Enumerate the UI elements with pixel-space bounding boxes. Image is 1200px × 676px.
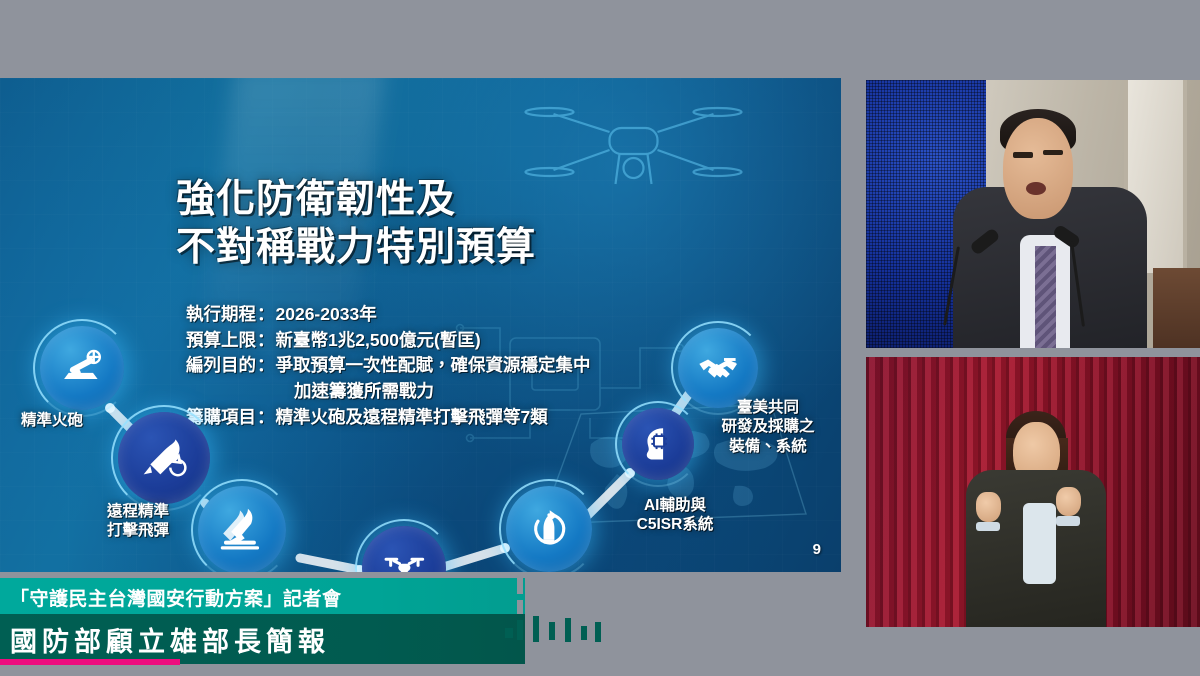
- speaker-tie: [1035, 246, 1057, 348]
- spec-row: 執行期程 ： 2026-2033年: [186, 302, 706, 328]
- broadcast-stage: 強化防衛韌性及 不對稱戰力特別預算 執行期程 ： 2026-2033年 預算上限…: [0, 0, 1200, 676]
- presentation-slide: 強化防衛韌性及 不對稱戰力特別預算 執行期程 ： 2026-2033年 預算上限…: [0, 78, 841, 572]
- node-label-line: 裝備、系統: [700, 437, 836, 456]
- speaker-head: [1003, 118, 1073, 220]
- interpreter-hand-right: [1056, 487, 1081, 517]
- spec-separator: ：: [256, 405, 276, 431]
- slide-node-label-us-taiwan-codev: 臺美共同 研發及採購之 裝備、系統: [700, 398, 836, 456]
- artillery-icon: [58, 344, 107, 393]
- spec-separator: ：: [256, 328, 276, 354]
- ai-brain-icon: [637, 423, 679, 465]
- video-panel-speaker-cam[interactable]: [866, 80, 1200, 348]
- handshake-icon: [695, 345, 741, 391]
- node-label-line: 精準火砲: [0, 411, 106, 430]
- speaker-brow-left: [1013, 152, 1033, 157]
- lower-third-subtitle: 國防部顧立雄部長簡報: [10, 614, 515, 664]
- spec-key: 編列目的: [186, 353, 256, 379]
- spec-key: 執行期程: [186, 302, 256, 328]
- spec-row: 編列目的 ： 爭取預算一次性配賦，確保資源穩定集中: [186, 353, 706, 379]
- node-label-line: AI輔助與: [615, 496, 735, 515]
- slide-node-label-long-range-missile: 遠程精準 打擊飛彈: [78, 502, 198, 541]
- launcher-icon: [216, 504, 267, 555]
- interpreter-cuff-right: [1056, 516, 1079, 525]
- slide-node-sustainment-capacity[interactable]: [506, 486, 592, 572]
- spec-value: 爭取預算一次性配賦，確保資源穩定集中: [276, 353, 591, 379]
- speaker-brow-right: [1043, 150, 1063, 155]
- node-label-line: 打擊飛彈: [78, 521, 198, 540]
- node-label-line: 研發及採購之: [700, 417, 836, 436]
- interpreter-shirt: [1023, 503, 1056, 584]
- slide-node-air-defense-missile[interactable]: [198, 486, 286, 572]
- slide-node-ai-c5isr[interactable]: [622, 408, 694, 480]
- slide-node-uav-counter-uav[interactable]: [362, 526, 446, 572]
- slide-node-label-precision-artillery: 精準火砲: [0, 411, 106, 430]
- missile-icon: [137, 431, 190, 484]
- spec-value: 2026-2033年: [276, 302, 377, 328]
- lower-third-dash-pattern: [505, 576, 625, 668]
- spec-value: 精準火砲及遠程精準打擊飛彈等7類: [276, 405, 548, 431]
- slide-node-label-ai-c5isr: AI輔助與 C5ISR系統: [615, 496, 735, 535]
- node-label-line: C5ISR系統: [615, 515, 735, 534]
- lower-third-banner: 「守護民主台灣國安行動方案」記者會 國防部顧立雄部長簡報: [0, 578, 1200, 676]
- drone-icon: [380, 544, 429, 572]
- spec-separator: ：: [256, 302, 276, 328]
- node-label-line: 遠程精準: [78, 502, 198, 521]
- wood-trim: [1153, 268, 1200, 348]
- spec-value: 新臺幣1兆2,500億元(暫匡): [276, 328, 481, 354]
- slide-title-line-2: 不對稱戰力特別預算: [176, 224, 706, 272]
- slide-title: 強化防衛韌性及 不對稱戰力特別預算: [176, 176, 706, 271]
- node-label-line: 臺美共同: [700, 398, 836, 417]
- ammo-cycle-icon: [524, 504, 574, 554]
- slide-node-precision-artillery[interactable]: [40, 326, 124, 410]
- slide-node-us-taiwan-codev[interactable]: [678, 328, 758, 408]
- spec-key: 預算上限: [186, 328, 256, 354]
- lower-third-title: 「守護民主台灣國安行動方案」記者會: [10, 581, 515, 613]
- slide-node-long-range-missile[interactable]: [118, 412, 210, 504]
- spec-value-continued: 加速籌獲所需戰力: [186, 379, 706, 405]
- spec-separator: ：: [256, 353, 276, 379]
- interpreter-cuff-left: [976, 522, 999, 531]
- slide-title-line-1: 強化防衛韌性及: [176, 176, 706, 224]
- slide-page-number: 9: [813, 541, 821, 558]
- interpreter-hand-left: [976, 492, 1001, 522]
- spec-row: 預算上限 ： 新臺幣1兆2,500億元(暫匡): [186, 328, 706, 354]
